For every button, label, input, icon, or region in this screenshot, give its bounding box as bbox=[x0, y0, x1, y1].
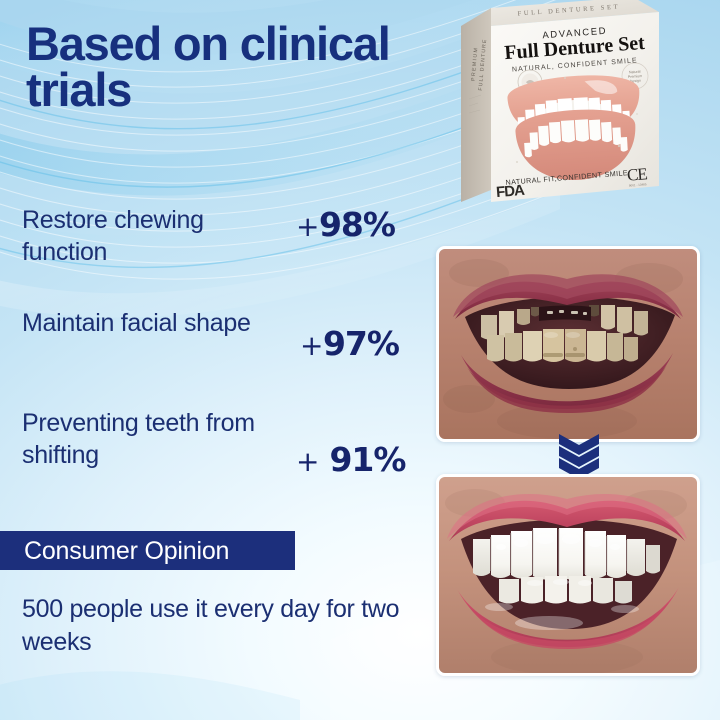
svg-text:FDA: FDA bbox=[495, 182, 525, 201]
consumer-opinion-text: 500 people use it every day for two week… bbox=[22, 593, 412, 658]
product-box-image: FULL DENTURE SET PREMIUM FULL DENTURE AD… bbox=[447, 0, 677, 214]
page-title: Based on clinical trials bbox=[26, 21, 426, 113]
plus-sign: + bbox=[296, 210, 319, 243]
plus-sign: + bbox=[296, 445, 319, 478]
benefit-row: Maintain facial shape +97% bbox=[0, 308, 420, 378]
fda-mark-icon: FDA bbox=[495, 182, 525, 201]
benefit-label: Maintain facial shape bbox=[22, 308, 292, 340]
benefit-row: Restore chewing function +98% bbox=[0, 205, 420, 275]
benefit-label: Preventing teeth from shifting bbox=[22, 408, 292, 471]
before-smile-photo bbox=[436, 246, 700, 442]
benefit-row: Preventing teeth from shifting + 91% bbox=[0, 408, 420, 478]
chevron-down-arrows bbox=[553, 432, 605, 474]
benefit-label: Restore chewing function bbox=[22, 205, 292, 268]
chevron-down-icon bbox=[559, 434, 599, 474]
plus-sign: + bbox=[300, 329, 323, 362]
benefit-value: 91% bbox=[319, 440, 405, 479]
benefit-value: 97% bbox=[323, 324, 399, 363]
consumer-opinion-label: Consumer Opinion bbox=[24, 537, 229, 566]
benefit-percent: +97% bbox=[300, 324, 399, 363]
ce-mark-icon: CE 9001 - 13485 bbox=[626, 164, 648, 188]
advertisement-canvas: Based on clinical trials Restore chewing… bbox=[0, 0, 720, 720]
benefit-value: 98% bbox=[319, 205, 395, 244]
after-smile-photo bbox=[436, 474, 700, 676]
benefit-percent: + 91% bbox=[296, 440, 405, 479]
consumer-opinion-banner: Consumer Opinion bbox=[0, 531, 295, 570]
benefit-percent: +98% bbox=[296, 205, 395, 244]
